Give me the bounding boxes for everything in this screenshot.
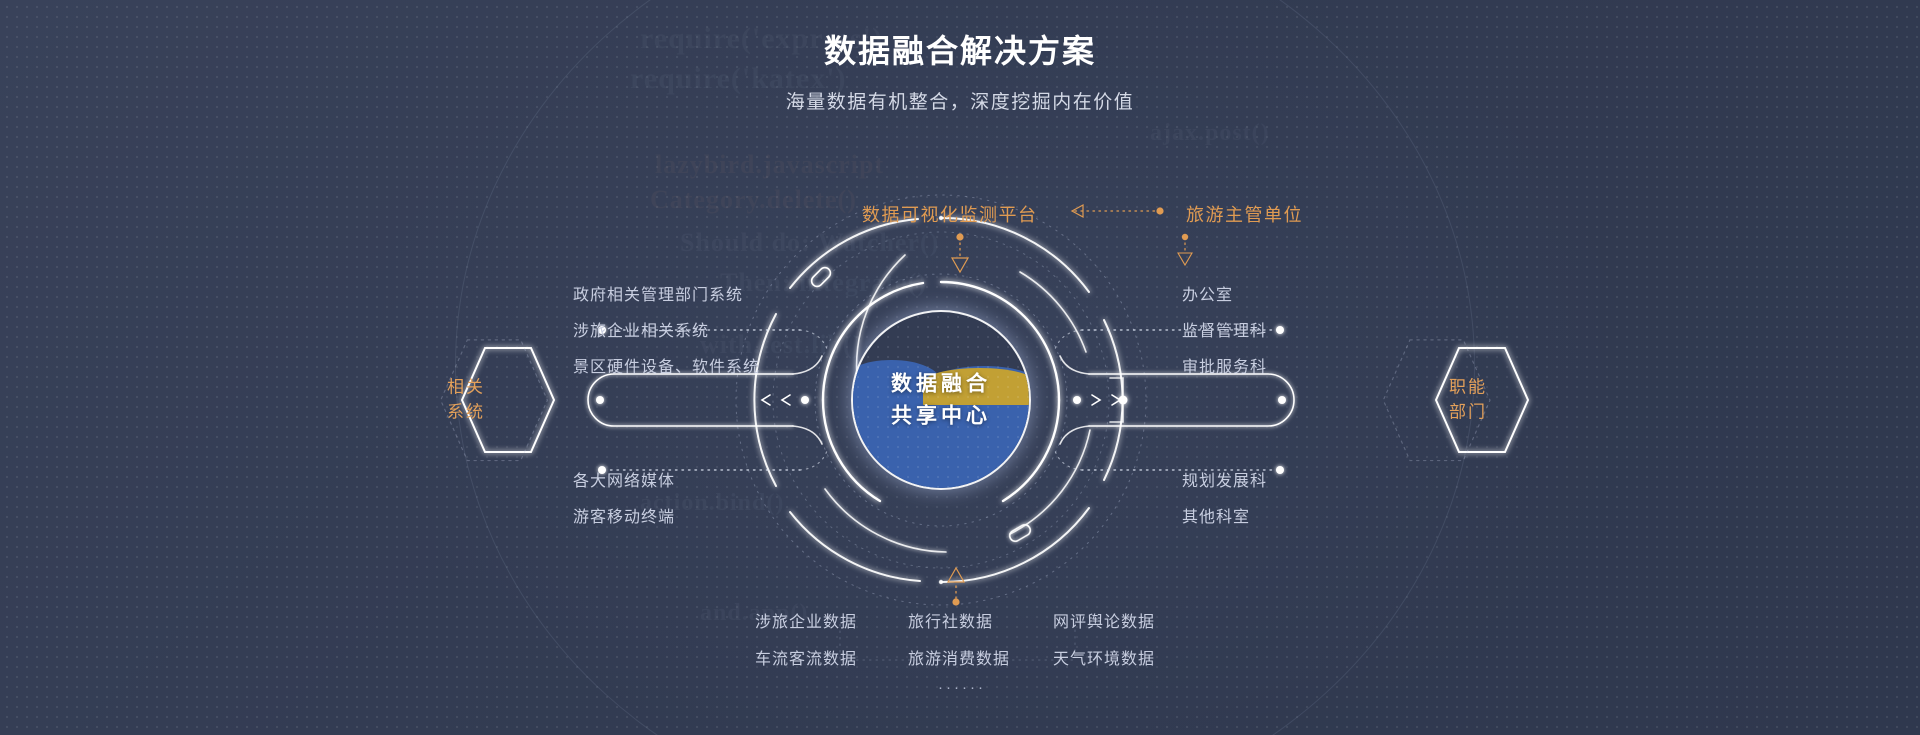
bottom-item-traffic-flow-data[interactable]: 车流客流数据 [755, 645, 857, 669]
infographic-canvas: require('express') require('katex') lazy… [0, 0, 1920, 735]
hexagon-right-label[interactable]: 职能 部门 [1449, 375, 1487, 424]
left-item-government-systems[interactable]: 政府相关管理部门系统 [573, 281, 743, 305]
right-item-supervision-dept[interactable]: 监督管理科 [1182, 317, 1267, 341]
bottom-item-online-review-data[interactable]: 网评舆论数据 [1053, 608, 1155, 632]
hexagon-left-label[interactable]: 相关 系统 [447, 375, 485, 424]
node-tourism-authority[interactable]: 旅游主管单位 [1186, 201, 1303, 227]
bottom-item-weather-env-data[interactable]: 天气环境数据 [1053, 645, 1155, 669]
center-sphere [853, 312, 1029, 488]
right-item-office[interactable]: 办公室 [1182, 281, 1233, 305]
page-subtitle: 海量数据有机整合，深度挖掘内在价值 [0, 87, 1920, 114]
right-item-planning-dev-dept[interactable]: 规划发展科 [1182, 467, 1267, 491]
right-item-other-depts[interactable]: 其他科室 [1182, 503, 1250, 527]
bottom-ellipsis: ······ [938, 679, 986, 696]
sphere-dot-texture [853, 312, 1029, 488]
bottom-item-tourism-consumption-data[interactable]: 旅游消费数据 [908, 645, 1010, 669]
bottom-item-travel-agency-data[interactable]: 旅行社数据 [908, 608, 993, 632]
hexagon-left-line-2: 系统 [447, 400, 485, 425]
right-item-approval-service-dept[interactable]: 审批服务科 [1182, 353, 1267, 377]
hexagon-right-line-1: 职能 [1449, 375, 1487, 400]
hexagon-right-line-2: 部门 [1449, 400, 1487, 425]
left-item-tourist-mobile-terminal[interactable]: 游客移动终端 [573, 503, 675, 527]
bottom-item-enterprise-data[interactable]: 涉旅企业数据 [755, 608, 857, 632]
node-visualization-platform[interactable]: 数据可视化监测平台 [862, 201, 1038, 227]
left-item-scenic-hardware-software[interactable]: 景区硬件设备、软件系统 [573, 353, 760, 377]
header: 数据融合解决方案 海量数据有机整合，深度挖掘内在价值 [0, 30, 1920, 114]
left-item-network-media[interactable]: 各大网络媒体 [573, 467, 675, 491]
hexagon-left-line-1: 相关 [447, 375, 485, 400]
page-title: 数据融合解决方案 [0, 30, 1920, 73]
left-item-tourism-enterprise-systems[interactable]: 涉旅企业相关系统 [573, 317, 709, 341]
